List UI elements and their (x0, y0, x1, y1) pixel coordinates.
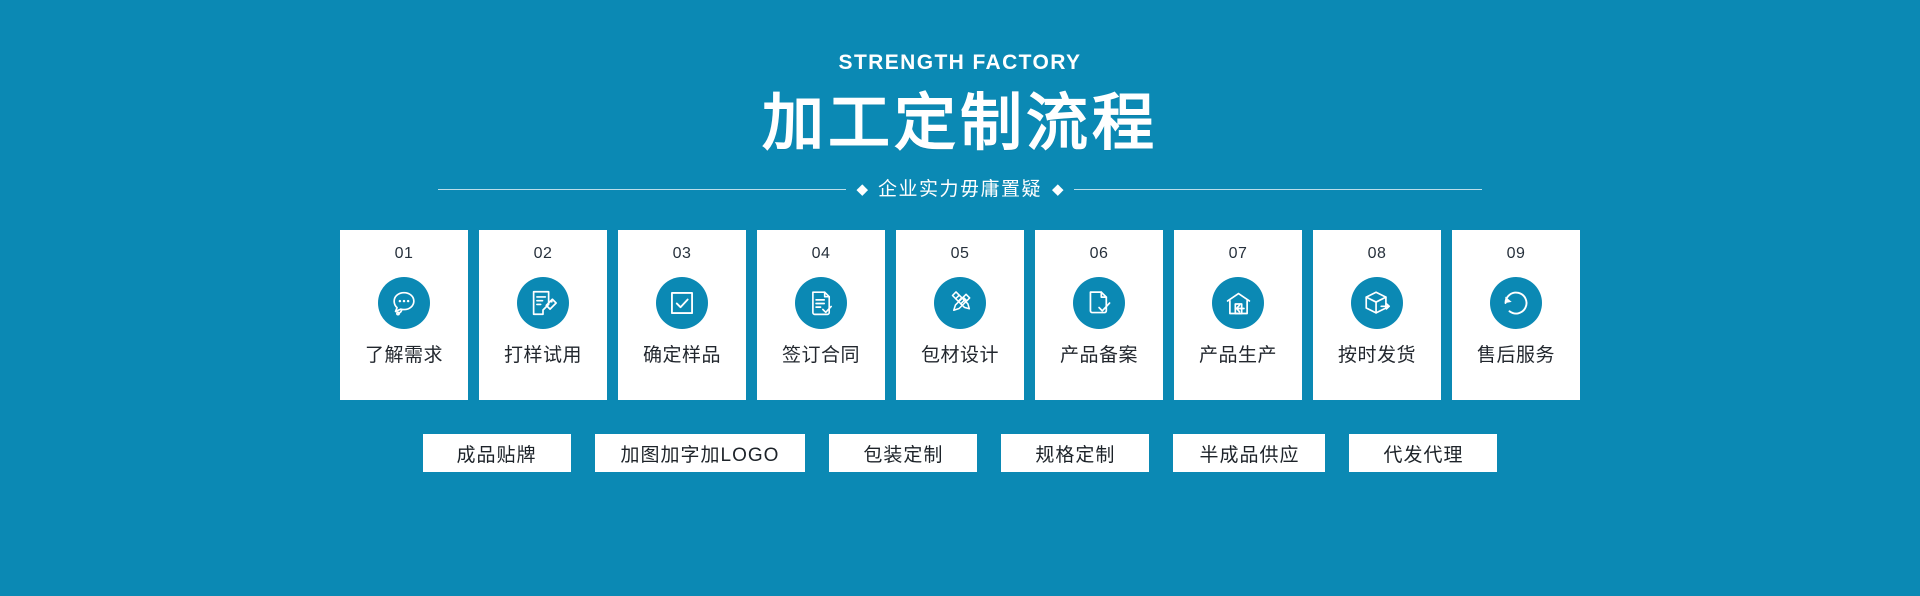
step-label: 按时发货 (1338, 346, 1416, 365)
diamond-right-icon: ◆ (1042, 182, 1074, 197)
divider-rule-left (438, 189, 846, 190)
contract-check-icon (795, 277, 847, 329)
process-step-list: 01 了解需求 02 (340, 230, 1580, 400)
service-tag-button[interactable]: 包装定制 (829, 434, 977, 472)
step-number: 06 (1090, 246, 1109, 262)
after-sales-character: 售 (1508, 294, 1523, 312)
banner-header: STRENGTH FACTORY 加工定制流程 ◆ 企业实力毋庸置疑 ◆ (0, 0, 1920, 199)
service-tag-button[interactable]: 规格定制 (1001, 434, 1149, 472)
process-step-card[interactable]: 05 包材设计 (896, 230, 1024, 400)
after-sales-refresh-icon: 售 (1490, 277, 1542, 329)
service-tag-button[interactable]: 成品贴牌 (423, 434, 571, 472)
checkbox-check-icon (656, 277, 708, 329)
banner-subtitle: 企业实力毋庸置疑 (878, 180, 1042, 199)
service-tag-list: 成品贴牌 加图加字加LOGO 包装定制 规格定制 半成品供应 代发代理 (423, 434, 1498, 472)
step-label: 签订合同 (782, 346, 860, 365)
step-label: 确定样品 (643, 346, 721, 365)
step-number: 07 (1229, 246, 1248, 262)
step-label: 了解需求 (365, 346, 443, 365)
step-number: 01 (395, 246, 414, 262)
divider-rule-right (1074, 189, 1482, 190)
process-step-card[interactable]: 03 确定样品 (618, 230, 746, 400)
step-label: 产品备案 (1060, 346, 1138, 365)
document-approved-icon (1073, 277, 1125, 329)
step-number: 03 (673, 246, 692, 262)
process-step-card[interactable]: 04 签订合同 (757, 230, 885, 400)
step-label: 包材设计 (921, 346, 999, 365)
process-step-card[interactable]: 09 售 售后服务 (1452, 230, 1580, 400)
step-label: 打样试用 (504, 346, 582, 365)
banner-eyebrow: STRENGTH FACTORY (839, 52, 1082, 73)
custom-process-banner: STRENGTH FACTORY 加工定制流程 ◆ 企业实力毋庸置疑 ◆ 01 (0, 0, 1920, 596)
process-step-card[interactable]: 01 了解需求 (340, 230, 468, 400)
process-step-card[interactable]: 06 产品备案 (1035, 230, 1163, 400)
step-number: 05 (951, 246, 970, 262)
step-number: 08 (1368, 246, 1387, 262)
box-shipping-arrow-icon (1351, 277, 1403, 329)
step-number: 09 (1507, 246, 1526, 262)
subtitle-divider: ◆ 企业实力毋庸置疑 ◆ (438, 180, 1482, 199)
service-tag-button[interactable]: 加图加字加LOGO (595, 434, 806, 472)
process-step-card[interactable]: 08 按时发货 (1313, 230, 1441, 400)
factory-warehouse-icon (1212, 277, 1264, 329)
service-tag-button[interactable]: 半成品供应 (1173, 434, 1325, 472)
process-step-card[interactable]: 02 打样试用 (479, 230, 607, 400)
speech-bubble-headset-icon (378, 277, 430, 329)
pencil-ruler-cross-icon (934, 277, 986, 329)
step-label: 售后服务 (1477, 346, 1555, 365)
process-step-card[interactable]: 07 产品生产 (1174, 230, 1302, 400)
step-number: 02 (534, 246, 553, 262)
page-title: 加工定制流程 (762, 87, 1158, 160)
step-number: 04 (812, 246, 831, 262)
diamond-left-icon: ◆ (846, 182, 878, 197)
step-label: 产品生产 (1199, 346, 1277, 365)
service-tag-button[interactable]: 代发代理 (1349, 434, 1497, 472)
document-tag-icon (517, 277, 569, 329)
